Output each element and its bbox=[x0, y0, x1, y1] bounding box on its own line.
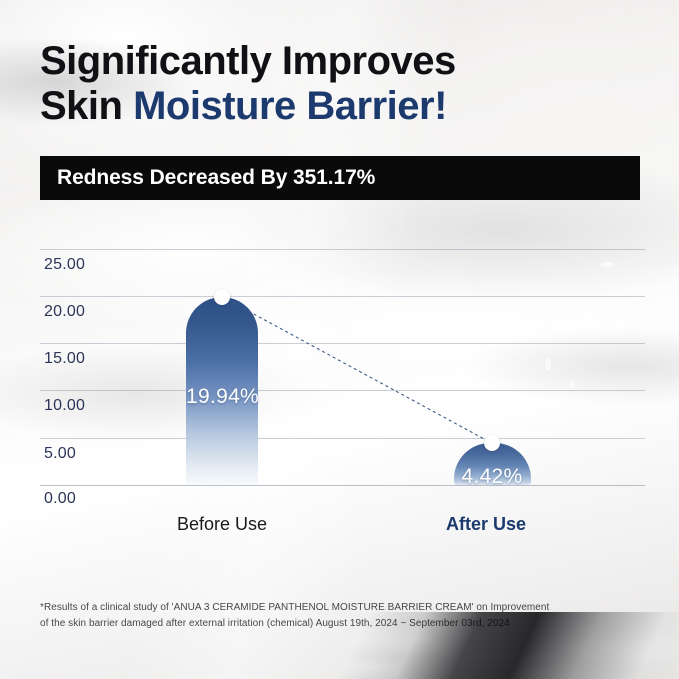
texture-speck bbox=[472, 300, 477, 307]
gridline-0-baseline bbox=[40, 485, 645, 486]
texture-speck bbox=[448, 386, 452, 392]
gridline-15 bbox=[40, 343, 645, 344]
footnote: *Results of a clinical study of 'ANUA 3 … bbox=[40, 600, 645, 632]
texture-speck bbox=[352, 336, 357, 344]
redness-banner: Redness Decreased By 351.17% bbox=[40, 156, 640, 200]
ytick-label-15: 15.00 bbox=[44, 350, 85, 368]
infographic-canvas: Significantly Improves Skin Moisture Bar… bbox=[0, 0, 679, 679]
gridline-5 bbox=[40, 438, 645, 439]
footnote-line-2: of the skin barrier damaged after extern… bbox=[40, 616, 645, 632]
texture-speck bbox=[420, 318, 427, 328]
texture-speck bbox=[545, 358, 551, 370]
footnote-line-1: *Results of a clinical study of 'ANUA 3 … bbox=[40, 600, 645, 616]
gridline-20 bbox=[40, 296, 645, 297]
ytick-label-0: 0.00 bbox=[44, 490, 76, 508]
headline-line-2: Skin Moisture Barrier! bbox=[40, 85, 640, 128]
gridline-25 bbox=[40, 249, 645, 250]
headline: Significantly Improves Skin Moisture Bar… bbox=[40, 40, 640, 128]
headline-line-2-prefix: Skin bbox=[40, 84, 133, 128]
ytick-label-25: 25.00 bbox=[44, 256, 85, 274]
xaxis-label-after-use: After Use bbox=[446, 514, 526, 535]
redness-banner-text: Redness Decreased By 351.17% bbox=[40, 166, 375, 190]
texture-speck bbox=[356, 297, 365, 301]
xaxis-label-before-use: Before Use bbox=[177, 514, 267, 535]
bar-before-use: 19.94% bbox=[186, 297, 258, 485]
texture-speck bbox=[600, 262, 614, 267]
texture-speck bbox=[570, 380, 575, 388]
bar-before-use-value-label: 19.94% bbox=[186, 385, 258, 409]
marker-dot-after-use bbox=[484, 435, 500, 451]
marker-dot-before-use bbox=[214, 289, 230, 305]
headline-line-2-highlight: Moisture Barrier bbox=[133, 84, 434, 128]
ytick-label-5: 5.00 bbox=[44, 445, 76, 463]
gridline-10 bbox=[40, 390, 645, 391]
ytick-label-20: 20.00 bbox=[44, 303, 85, 321]
headline-line-1: Significantly Improves bbox=[40, 40, 640, 83]
ytick-label-10: 10.00 bbox=[44, 397, 85, 415]
bar-after-use: 4.42% bbox=[454, 443, 531, 485]
bar-after-use-value-label: 4.42% bbox=[454, 465, 531, 489]
headline-line-2-suffix: ! bbox=[434, 84, 447, 128]
